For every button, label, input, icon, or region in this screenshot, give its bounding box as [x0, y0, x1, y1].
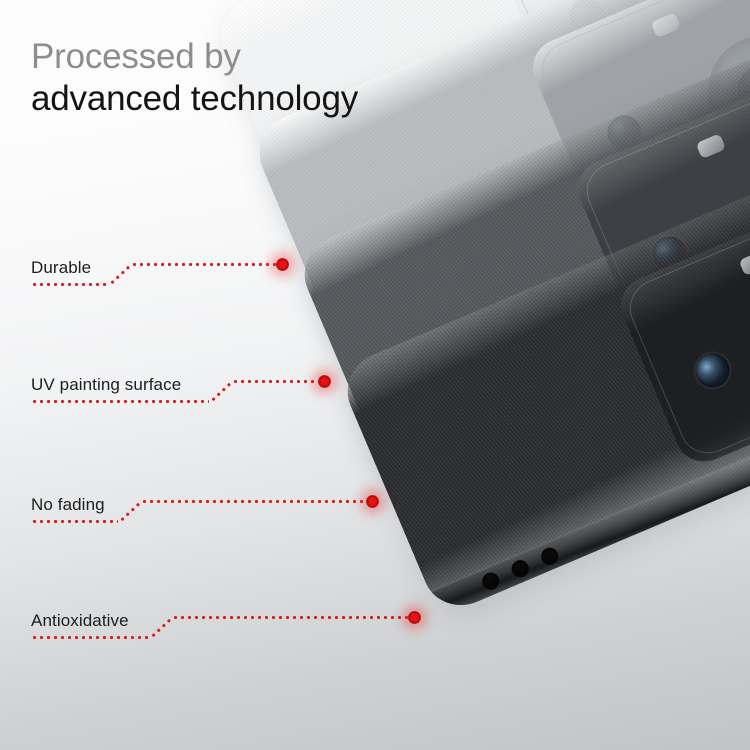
- callout-marker-durable: [276, 258, 289, 271]
- product-feature-graphic: Processed by advanced technology CASENIL…: [0, 0, 750, 750]
- callout-marker-uv-painting-surface: [318, 375, 331, 388]
- callout-layer: DurableUV painting surfaceNo fadingAntio…: [0, 0, 750, 750]
- callout-leader-line-antioxidative: [172, 616, 409, 619]
- callout-leader-line-durable: [131, 263, 277, 266]
- callout-underline-no-fading: [31, 520, 118, 523]
- callout-label-durable: Durable: [31, 258, 91, 278]
- callout-label-no-fading: No fading: [31, 495, 105, 515]
- callout-diagonal-uv-painting-surface: [210, 380, 234, 403]
- callout-underline-uv-painting-surface: [31, 400, 209, 403]
- callout-diagonal-no-fading: [119, 500, 143, 523]
- callout-underline-durable: [31, 283, 108, 286]
- callout-leader-line-no-fading: [141, 500, 367, 503]
- callout-underline-antioxidative: [31, 636, 149, 639]
- callout-diagonal-durable: [109, 263, 133, 286]
- callout-marker-no-fading: [366, 495, 379, 508]
- callout-label-uv-painting-surface: UV painting surface: [31, 375, 181, 395]
- callout-leader-line-uv-painting-surface: [232, 380, 319, 383]
- callout-diagonal-antioxidative: [150, 616, 174, 639]
- callout-marker-antioxidative: [408, 611, 421, 624]
- callout-label-antioxidative: Antioxidative: [31, 611, 129, 631]
